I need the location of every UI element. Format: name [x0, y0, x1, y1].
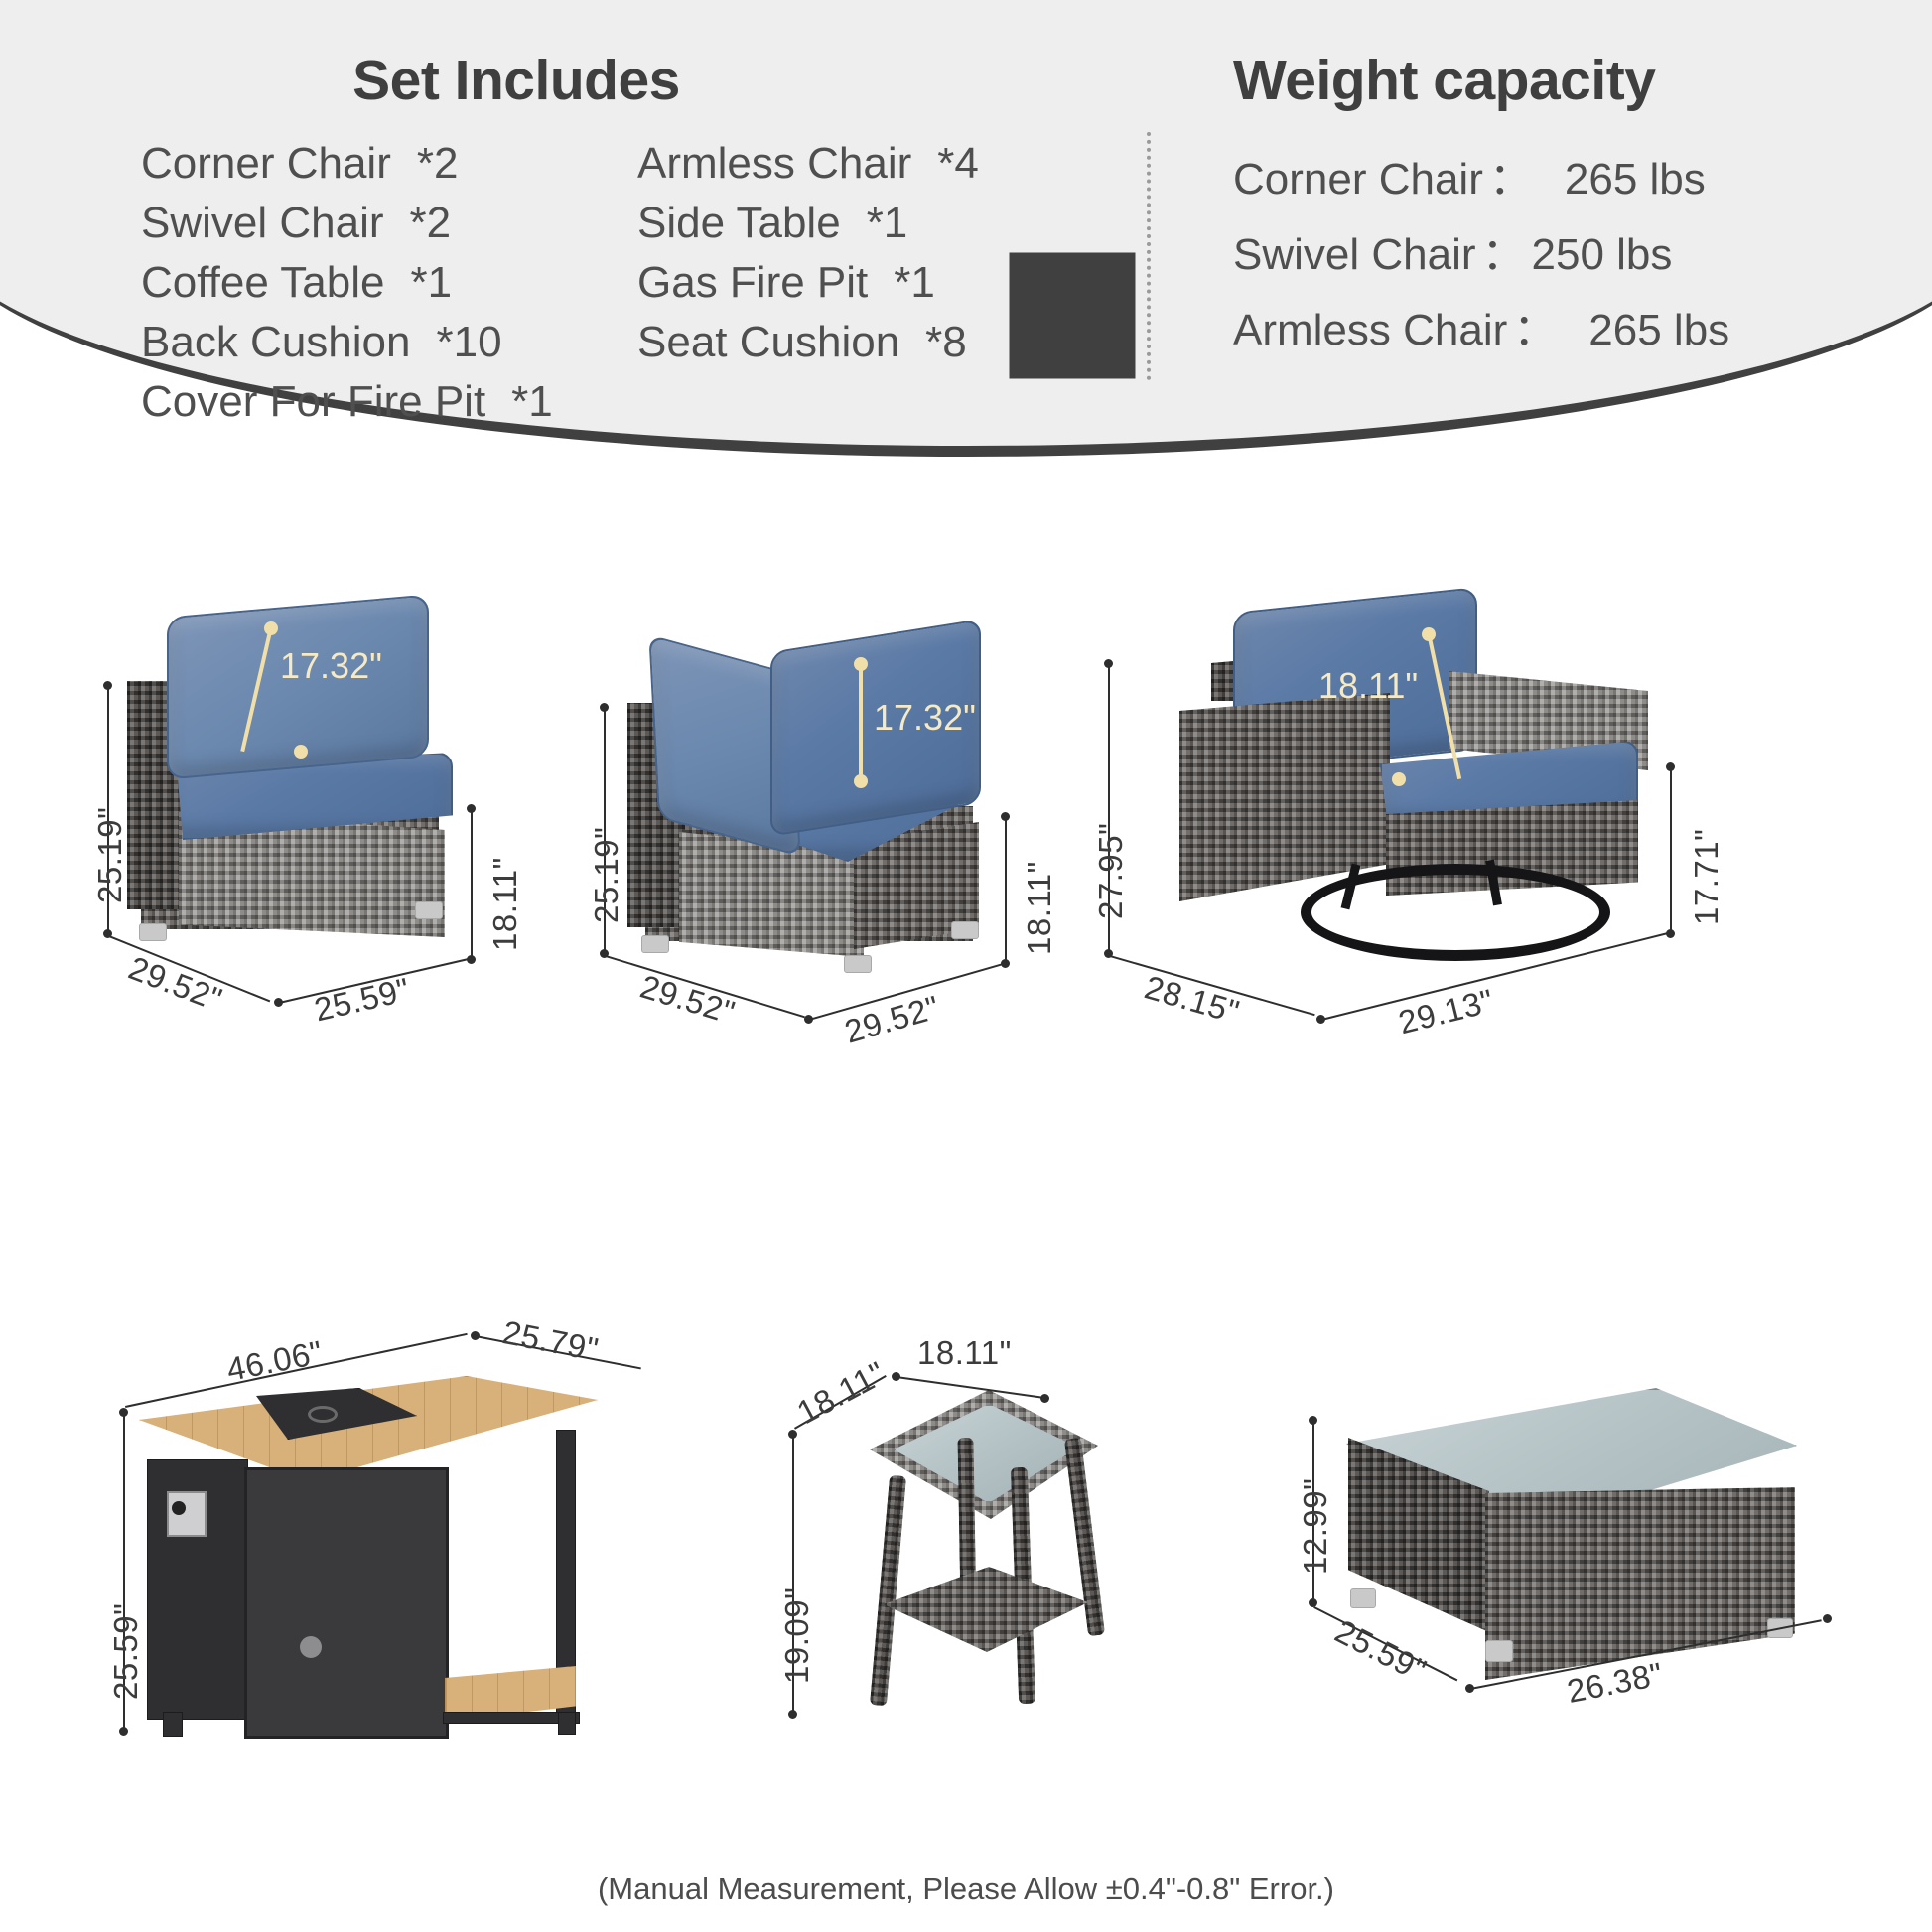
weight-row-name: Corner Chair	[1233, 155, 1483, 205]
side-table-depth-label: 18.11"	[791, 1354, 893, 1432]
header-content: Set Includes Corner Chair *2 Armless Cha…	[0, 0, 1932, 467]
fire-pit-depth-label: 25.79"	[499, 1313, 602, 1369]
include-item-name: Corner Chair	[141, 139, 391, 189]
list-item: Side Table *1	[637, 199, 1114, 248]
fire-pit-foot	[558, 1712, 576, 1735]
list-item: Armless Chair ： 265 lbs	[1233, 294, 1928, 357]
ottoman-foot	[1485, 1640, 1513, 1662]
weight-row-value: 265 lbs	[1588, 306, 1729, 355]
include-item-qty: *2	[410, 199, 452, 248]
include-item-qty: *1	[894, 258, 935, 308]
cushion-callout-dot-bottom	[294, 745, 308, 759]
dim-dot	[1040, 1394, 1049, 1403]
weight-row-value: 250 lbs	[1532, 230, 1673, 280]
weight-capacity-title: Weight capacity	[1233, 48, 1928, 113]
corner-chair-foot	[951, 921, 979, 939]
swivel-chair-height-label: 27.95"	[1092, 823, 1130, 919]
list-item: Corner Chair ： 265 lbs	[1233, 143, 1928, 207]
product-dimension-grid: 17.32" 25.19" 18.11" 29.52" 25.59"	[0, 556, 1932, 1866]
armless-chair-foot	[139, 923, 167, 941]
include-item-name: Coffee Table	[141, 258, 384, 308]
fire-pit-door-knob	[300, 1636, 322, 1658]
include-item-name: Gas Fire Pit	[637, 258, 868, 308]
corner-chair-foot	[844, 955, 872, 973]
list-item: Back Cushion *10	[141, 318, 637, 367]
list-item: Swivel Chair ： 250 lbs	[1233, 218, 1928, 282]
corner-chair-height-label: 25.19"	[588, 827, 625, 923]
corner-chair-width-label: 29.52"	[841, 988, 944, 1050]
list-item: Corner Chair *2	[141, 139, 637, 189]
list-item: Gas Fire Pit *1	[637, 258, 1114, 308]
weight-row-colon: ：	[1482, 218, 1526, 282]
fire-pit-width-label: 46.06"	[223, 1333, 326, 1389]
side-table-leg	[870, 1475, 906, 1707]
swivel-chair-width-label: 29.13"	[1395, 982, 1498, 1041]
weight-capacity-panel: Weight capacity Corner Chair ： 265 lbs S…	[1233, 48, 1928, 369]
include-item-qty: *1	[511, 377, 553, 427]
fire-pit-control-panel	[167, 1491, 207, 1537]
include-item-qty: *8	[925, 318, 967, 367]
list-item: Seat Cushion *8	[637, 318, 1114, 367]
fire-pit-control-knob	[172, 1501, 186, 1515]
set-includes-panel: Set Includes Corner Chair *2 Armless Cha…	[0, 48, 1142, 427]
cushion-callout-dot-bottom	[1392, 772, 1406, 786]
armless-chair-width-label: 25.59"	[311, 971, 413, 1030]
ottoman-height-label: 12.99"	[1297, 1478, 1334, 1575]
dim-line-seat-height	[1670, 766, 1672, 933]
fire-pit-foot	[163, 1712, 183, 1737]
list-item: Swivel Chair *2	[141, 199, 637, 248]
side-table-width-label: 18.11"	[917, 1334, 1012, 1372]
product-side-table: 19.09" 18.11" 18.11"	[695, 1291, 1251, 1847]
side-table-height-label: 19.09"	[778, 1587, 816, 1684]
corner-chair-foot	[641, 935, 669, 953]
include-item-name: Seat Cushion	[637, 318, 899, 367]
fire-pit-height-label: 25.59"	[107, 1603, 145, 1700]
weight-capacity-list: Corner Chair ： 265 lbs Swivel Chair ： 25…	[1233, 143, 1928, 357]
cushion-callout-dot-bottom	[854, 774, 868, 788]
dim-dot	[1309, 1598, 1317, 1607]
include-item-qty: *1	[867, 199, 908, 248]
side-table-lower-shelf	[884, 1567, 1088, 1652]
measurement-disclaimer: (Manual Measurement, Please Allow ±0.4"-…	[0, 1871, 1932, 1907]
cushion-callout-line	[859, 663, 863, 780]
fire-pit-burner-hole	[308, 1406, 338, 1423]
product-armless-chair: 17.32" 25.19" 18.11" 29.52" 25.59"	[69, 586, 625, 1052]
include-item-qty: *2	[417, 139, 459, 189]
product-gas-fire-pit-table: 25.59" 46.06" 25.79"	[60, 1291, 695, 1847]
weight-row-colon: ：	[1513, 294, 1557, 357]
include-item-name: Side Table	[637, 199, 841, 248]
armless-chair-height-label: 25.19"	[91, 807, 129, 903]
include-item-qty: *10	[436, 318, 501, 367]
ottoman-foot	[1350, 1588, 1376, 1608]
armless-chair-depth-label: 29.52"	[123, 949, 226, 1019]
fire-pit-cabinet-door	[244, 1467, 449, 1739]
set-includes-title: Set Includes	[0, 48, 1142, 113]
include-item-name: Cover For Fire Pit	[141, 377, 485, 427]
weight-row-colon: ：	[1489, 143, 1533, 207]
ottoman-depth-label: 25.59"	[1329, 1612, 1433, 1690]
armless-chair-seat-height-label: 18.11"	[486, 857, 524, 951]
product-coffee-table-ottoman: 12.99" 25.59" 26.38"	[1251, 1291, 1932, 1847]
dim-line-seat-height	[1005, 816, 1007, 963]
include-item-name: Swivel Chair	[141, 199, 384, 248]
include-item-name: Armless Chair	[637, 139, 911, 189]
include-item-name: Back Cushion	[141, 318, 410, 367]
include-item-qty: *4	[937, 139, 979, 189]
product-swivel-chair: 18.11" 27.95" 17.71" 28.15" 29.13"	[1052, 566, 1747, 1062]
corner-chair-cushion-dimension: 17.32"	[874, 697, 976, 739]
dim-line-seat-height	[471, 808, 473, 959]
dim-dot	[788, 1710, 797, 1719]
weight-row-name: Swivel Chair	[1233, 230, 1476, 280]
dim-dot	[119, 1727, 128, 1736]
list-item: Coffee Table *1	[141, 258, 637, 308]
set-includes-list: Corner Chair *2 Armless Chair *4 Swivel …	[0, 139, 1142, 427]
armless-chair-cushion-dimension: 17.32"	[280, 645, 382, 687]
swivel-chair-seat-height-label: 17.71"	[1688, 829, 1725, 925]
armless-chair-foot	[415, 901, 443, 919]
weight-row-name: Armless Chair	[1233, 306, 1507, 355]
dim-line-width	[897, 1376, 1044, 1399]
side-table-glass-top	[894, 1404, 1078, 1503]
list-item: Armless Chair *4	[637, 139, 1114, 189]
ottoman-front-panel	[1485, 1487, 1795, 1680]
weight-row-value: 265 lbs	[1565, 155, 1706, 205]
swivel-chair-cushion-dimension: 18.11"	[1318, 665, 1418, 707]
list-item: Cover For Fire Pit *1	[141, 377, 637, 427]
header-dotted-divider	[1147, 132, 1151, 380]
corner-chair-depth-label: 29.52"	[636, 968, 740, 1033]
include-item-qty: *1	[410, 258, 452, 308]
dim-dot	[1823, 1614, 1832, 1623]
